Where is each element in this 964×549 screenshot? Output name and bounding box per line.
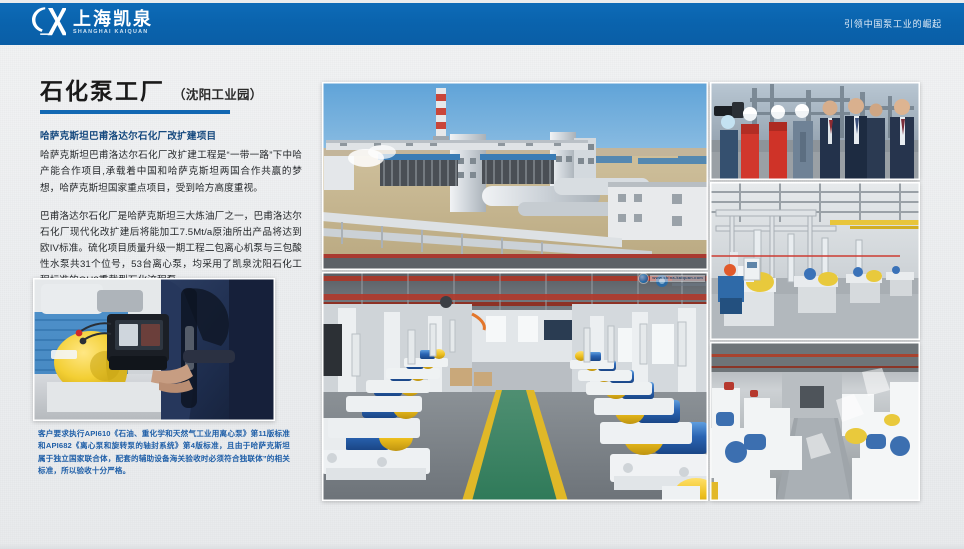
header-top-edge [0,0,964,3]
photo-warehouse-image [710,342,920,501]
photo-inspection-image [33,278,275,421]
photo-refinery-image [322,82,708,270]
slide-page: 上海凯泉 SHANGHAI KAIQUAN 引领中国泵工业的崛起 石化泵工厂 （… [0,0,964,549]
page-title-main: 石化泵工厂 [40,78,165,104]
photo-workshop: www.china-kaiquan.com [322,272,708,501]
inspection-caption: 客户要求执行API610《石油、重化学和天然气工业用离心泵》第11版标准和API… [38,428,290,477]
brand-name-cn: 上海凯泉 [73,10,153,28]
header-tagline: 引领中国泵工业的崛起 [844,17,942,30]
photo-workshop-image [322,272,708,501]
photo-pumpsite [710,182,920,340]
photo-delegation-image [710,82,920,180]
watermark-globe-icon [639,274,648,283]
watermark-text: www.china-kaiquan.com [650,275,705,281]
photo-pumpsite-image [710,182,920,340]
brand-logo[interactable]: 上海凯泉 SHANGHAI KAIQUAN [32,7,153,38]
photo-inspection [33,278,275,421]
brand-text: 上海凯泉 SHANGHAI KAIQUAN [73,10,153,36]
title-underline-rule [40,110,230,114]
image-watermark: www.china-kaiquan.com [639,274,705,283]
brand-name-en: SHANGHAI KAIQUAN [73,30,153,35]
page-bottom-edge [0,543,964,549]
project-paragraph-1: 哈萨克斯坦巴甫洛达尔石化厂改扩建工程是“一带一路”下中哈产能合作项目,承载着中国… [40,148,302,196]
kaiquan-logo-icon [32,7,66,38]
page-header: 上海凯泉 SHANGHAI KAIQUAN 引领中国泵工业的崛起 [0,0,964,45]
photo-delegation [710,82,920,180]
left-content-column: 石化泵工厂 （沈阳工业园） 哈萨克斯坦巴甫洛达尔石化厂改扩建项目 哈萨克斯坦巴甫… [40,78,302,289]
photo-warehouse [710,342,920,501]
photo-refinery [322,82,708,270]
page-title: 石化泵工厂 （沈阳工业园） [40,78,302,104]
page-title-sub: （沈阳工业园） [173,84,263,103]
project-heading: 哈萨克斯坦巴甫洛达尔石化厂改扩建项目 [40,130,302,144]
